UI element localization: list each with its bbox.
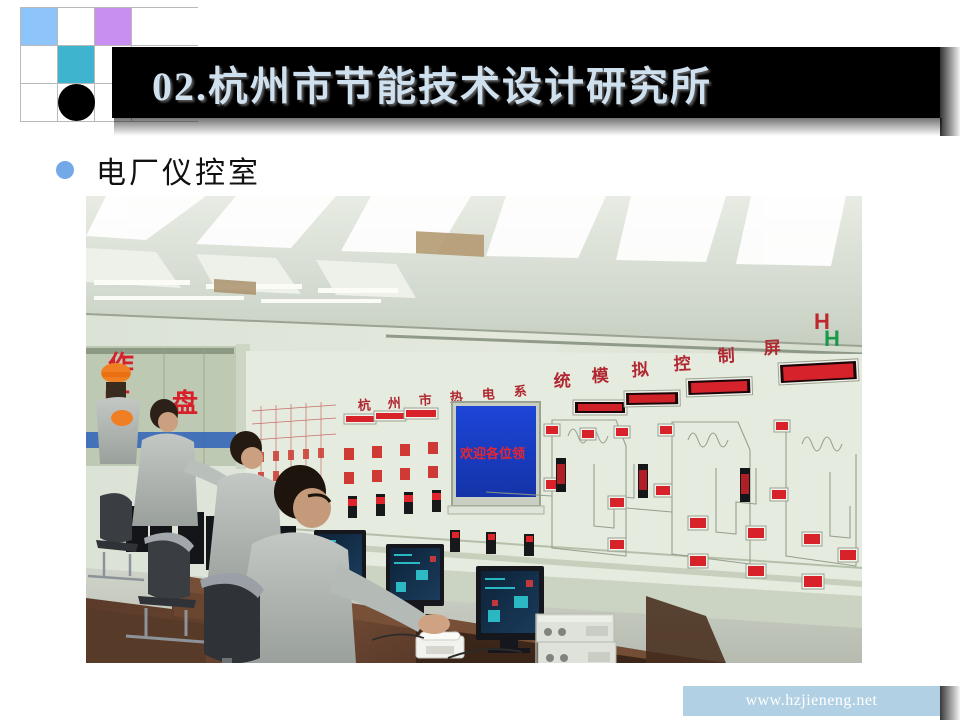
slide-title-bar: 02.杭州市节能技术设计研究所 <box>112 47 940 118</box>
bullet-dot-icon <box>56 161 74 179</box>
svg-text:拟: 拟 <box>631 359 649 380</box>
grid-line-v <box>20 7 21 121</box>
bullet-item-label: 电厂仪控室 <box>96 148 261 192</box>
decor-square-purple <box>95 8 131 45</box>
bullet-item: 电厂仪控室 <box>56 148 261 192</box>
grid-line-v <box>57 7 58 121</box>
grid-line-h <box>20 45 198 46</box>
svg-text:电: 电 <box>481 386 495 402</box>
svg-text:屏: 屏 <box>763 338 781 358</box>
presentation-slide: 02.杭州市节能技术设计研究所 电厂仪控室 <box>0 0 960 720</box>
title-bar-shadow <box>114 118 942 136</box>
content-photo: 作 临 盘 杭 州 市 热 电 系 <box>86 196 862 663</box>
footer-shadow <box>940 686 960 720</box>
grid-line-v <box>94 7 95 121</box>
svg-text:统: 统 <box>553 370 571 391</box>
svg-text:州: 州 <box>386 395 401 411</box>
decor-circle-black <box>58 84 95 121</box>
footer-url[interactable]: www.hzjieneng.net <box>683 692 940 710</box>
page-title: 02.杭州市节能技术设计研究所 <box>152 54 712 112</box>
svg-text:杭: 杭 <box>357 397 371 413</box>
grid-line-h <box>20 7 198 8</box>
decor-square-blue <box>21 8 57 45</box>
svg-text:系: 系 <box>513 383 527 399</box>
svg-text:制: 制 <box>717 345 735 366</box>
svg-text:模: 模 <box>591 365 610 386</box>
footer-bar: www.hzjieneng.net <box>683 686 940 716</box>
title-bar-shadow-right <box>940 47 960 136</box>
decor-square-teal <box>58 46 94 83</box>
svg-text:H: H <box>824 326 840 351</box>
svg-text:市: 市 <box>418 392 432 408</box>
control-room-photo: 作 临 盘 杭 州 市 热 电 系 <box>86 196 862 663</box>
svg-text:控: 控 <box>673 353 691 374</box>
svg-text:欢迎各位领: 欢迎各位领 <box>459 446 525 461</box>
